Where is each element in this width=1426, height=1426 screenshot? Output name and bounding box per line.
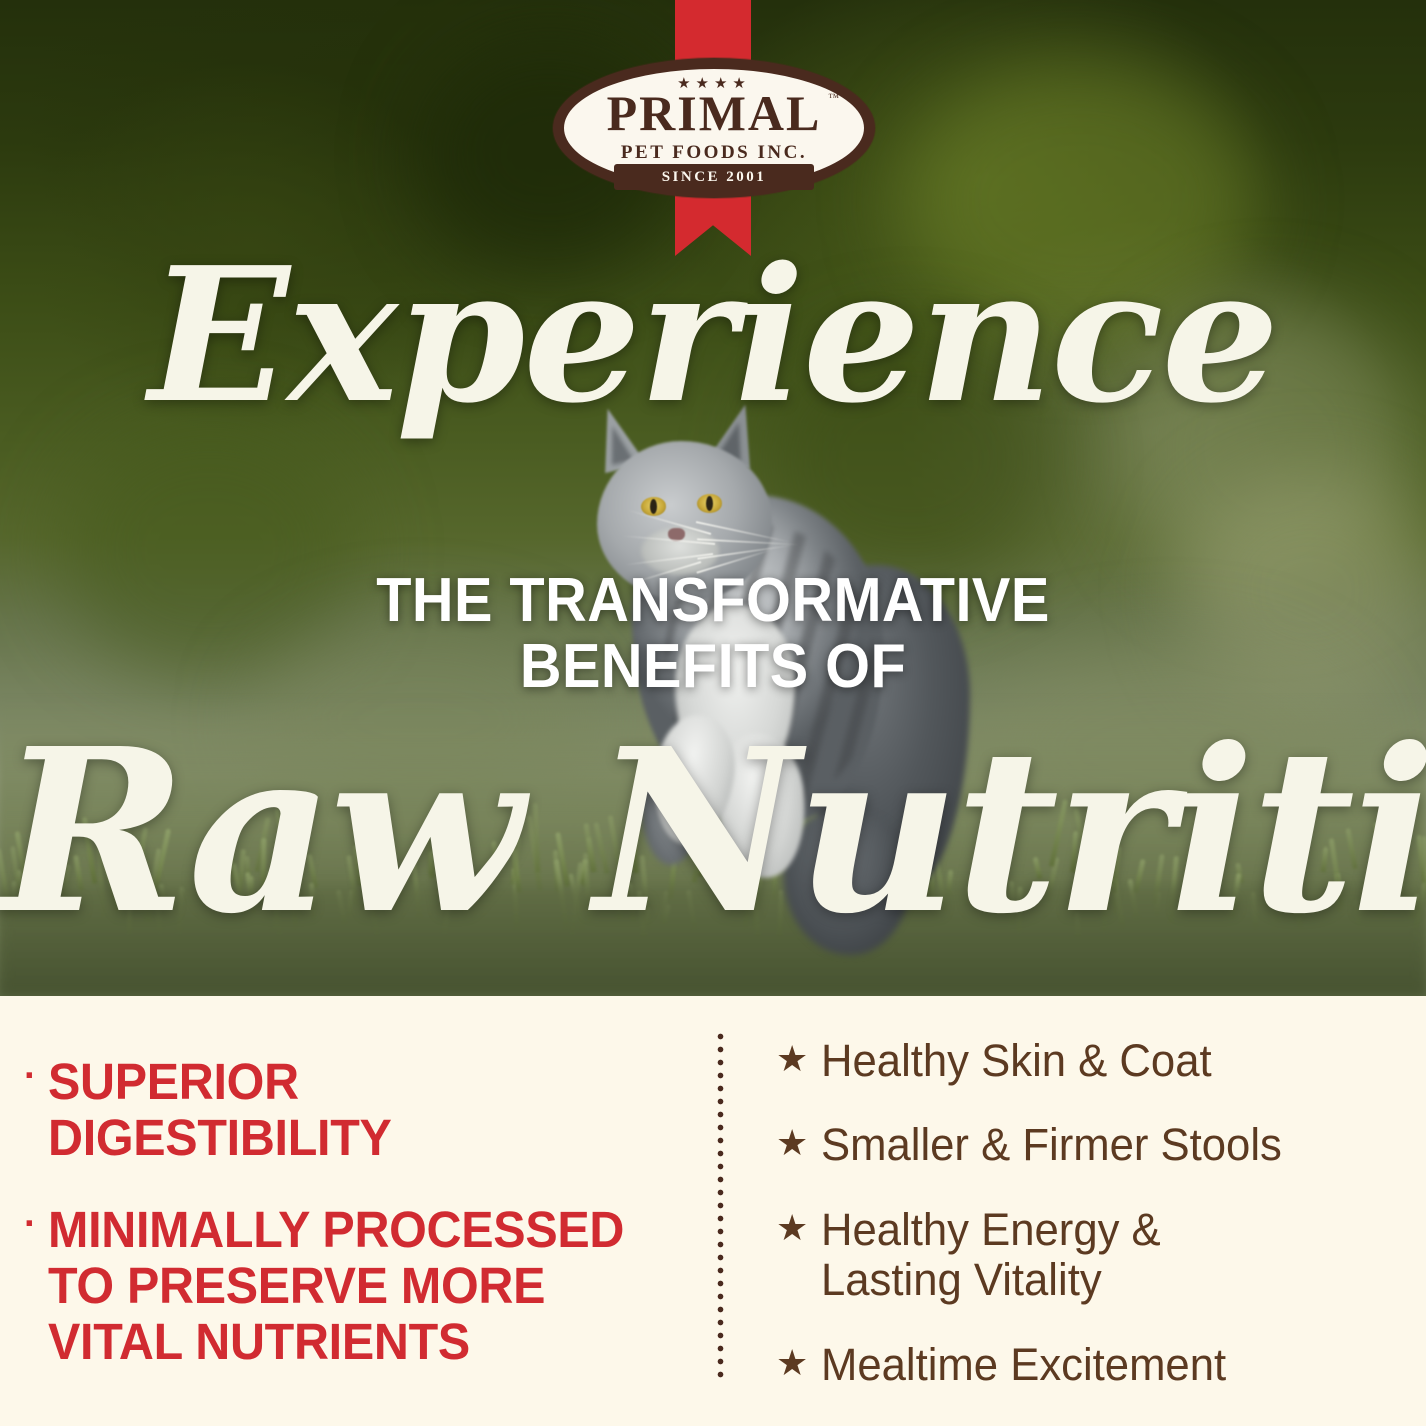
primal-logo[interactable]: ★★★★ PRIMAL ™ PET FOODS INC. SINCE 2001 <box>553 58 875 198</box>
dotted-divider-line <box>717 1030 724 1378</box>
benefits-right-column: ★Healthy Skin & Coat★Smaller & Firmer St… <box>740 996 1426 1426</box>
benefit-item-star: ★Healthy Skin & Coat <box>776 1036 1406 1086</box>
benefit-label: Smaller & Firmer Stools <box>821 1120 1282 1170</box>
headline-raw-nutrition: Raw Nutrition <box>0 720 1426 945</box>
logo-subtitle: PET FOODS INC. <box>553 142 875 164</box>
subheadline: THE TRANSFORMATIVE BENEFITS OF <box>50 568 1376 701</box>
cat-pupil-right <box>706 496 713 511</box>
logo-since-text: SINCE 2001 <box>662 169 767 186</box>
logo-trademark: ™ <box>828 92 839 104</box>
benefit-item-red: ·SUPERIOR DIGESTIBILITY <box>24 1054 666 1166</box>
benefit-item-star: ★Mealtime Excitement <box>776 1340 1406 1390</box>
benefit-label: Healthy Skin & Coat <box>821 1036 1212 1086</box>
column-divider <box>700 996 740 1426</box>
benefit-item-red: ·MINIMALLY PROCESSED TO PRESERVE MORE VI… <box>24 1202 666 1370</box>
benefit-label: Mealtime Excitement <box>821 1340 1226 1390</box>
benefits-panel: ·SUPERIOR DIGESTIBILITY·MINIMALLY PROCES… <box>0 996 1426 1426</box>
logo-brand-name: PRIMAL <box>553 87 875 140</box>
logo-since-banner: SINCE 2001 <box>614 164 814 190</box>
benefits-left-column: ·SUPERIOR DIGESTIBILITY·MINIMALLY PROCES… <box>0 996 700 1426</box>
star-icon: ★ <box>776 1205 808 1252</box>
hero-photo: Experience THE TRANSFORMATIVE BENEFITS O… <box>0 0 1426 996</box>
cat-pupil-left <box>650 499 657 514</box>
benefit-label: SUPERIOR DIGESTIBILITY <box>48 1054 635 1166</box>
headline-experience: Experience <box>0 243 1426 428</box>
marketing-poster: Experience THE TRANSFORMATIVE BENEFITS O… <box>0 0 1426 1426</box>
bullet-dot-icon: · <box>24 1202 36 1370</box>
star-icon: ★ <box>776 1036 808 1083</box>
benefit-item-star: ★Healthy Energy & Lasting Vitality <box>776 1205 1406 1306</box>
benefit-label: Healthy Energy & Lasting Vitality <box>821 1205 1161 1306</box>
bullet-dot-icon: · <box>24 1054 36 1166</box>
star-icon: ★ <box>776 1120 808 1167</box>
star-icon: ★ <box>776 1340 808 1387</box>
benefit-label: MINIMALLY PROCESSED TO PRESERVE MORE VIT… <box>48 1202 635 1370</box>
benefit-item-star: ★Smaller & Firmer Stools <box>776 1120 1406 1170</box>
